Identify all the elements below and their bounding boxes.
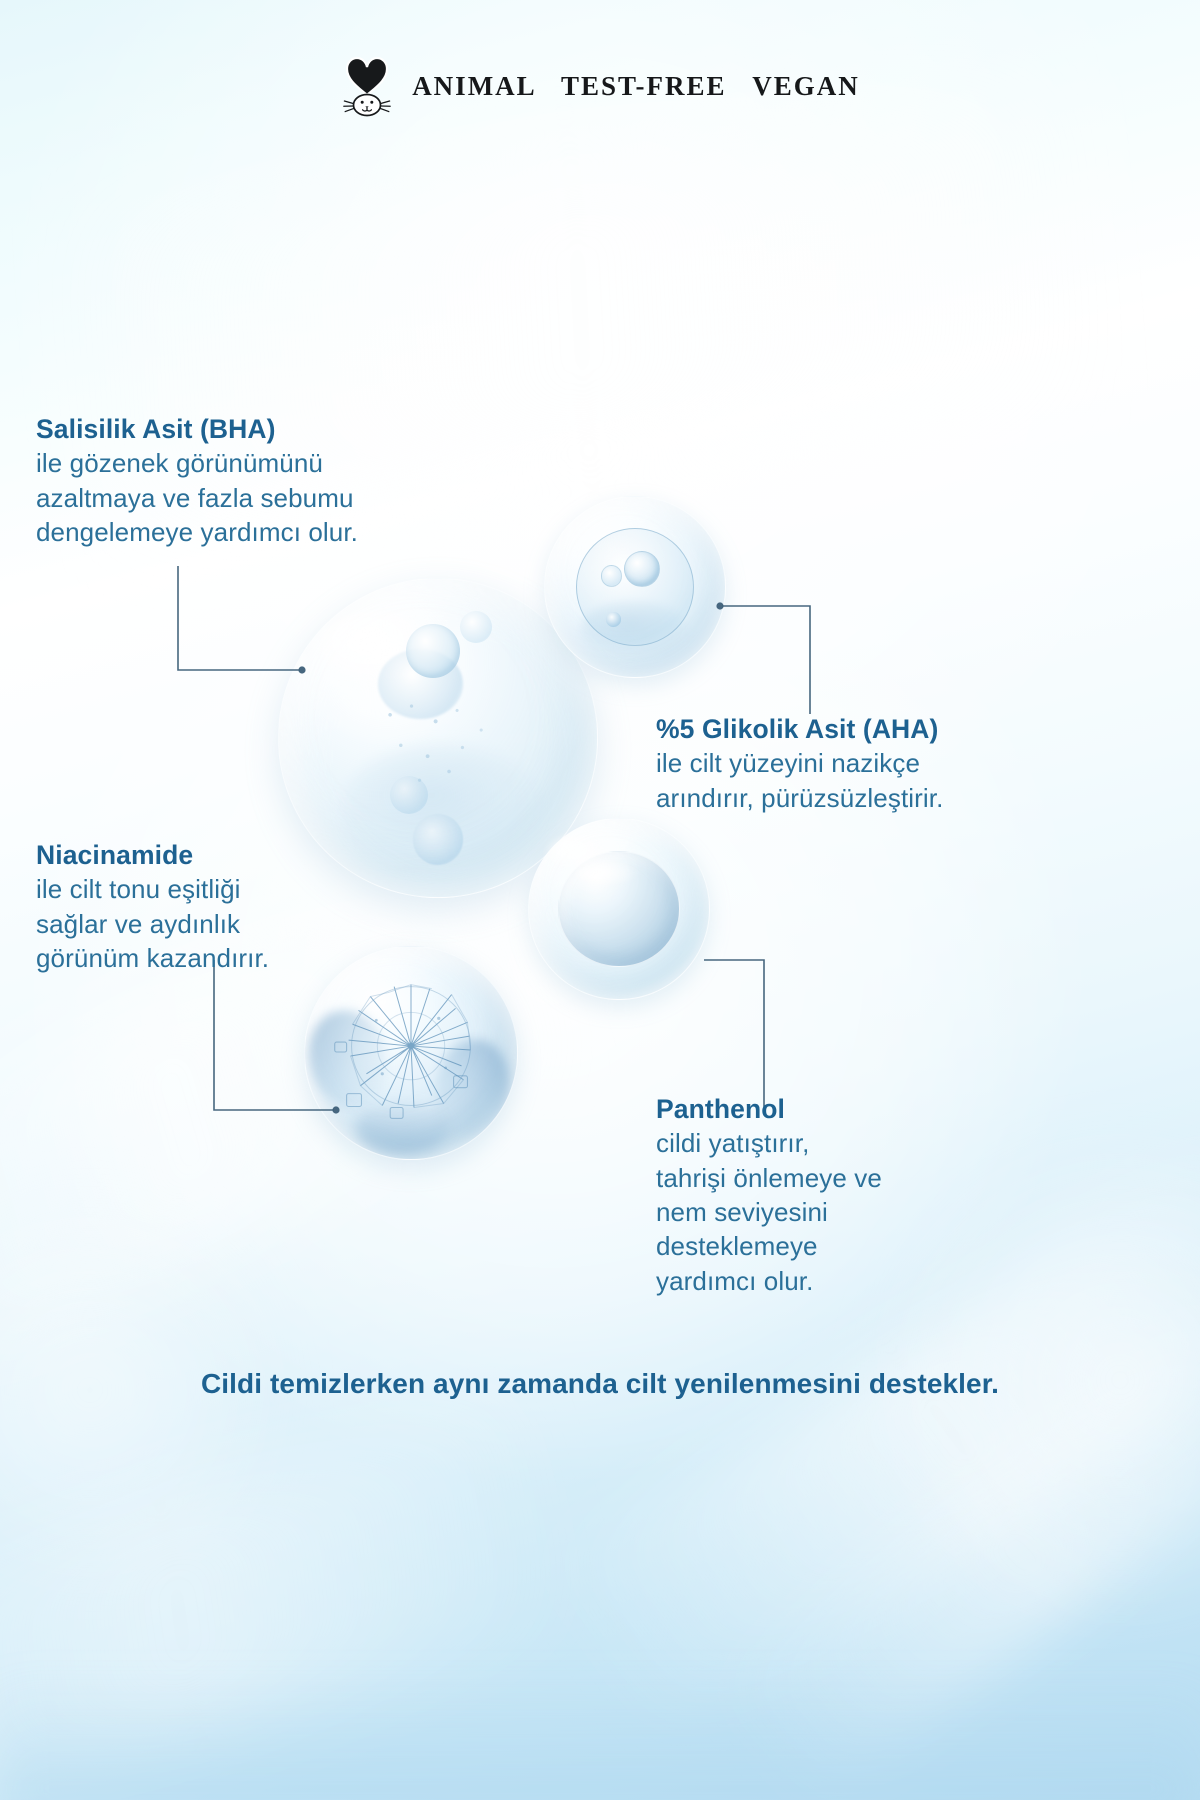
- droplet-aha: [544, 496, 726, 678]
- droplet-micro-bubbles: [374, 693, 508, 801]
- callout-title-bha: Salisilik Asit (BHA): [36, 412, 358, 446]
- droplet-inner-bubble: [460, 611, 492, 643]
- droplet-inner-bubble: [390, 776, 428, 814]
- callout-body-bha: ile gözenek görünümünü azaltmaya ve fazl…: [36, 446, 358, 549]
- droplet-highlight: [547, 835, 608, 871]
- bunny-heart-ears-icon: [340, 55, 394, 117]
- droplet-inner-bubble: [413, 814, 464, 865]
- callout-body-aha: ile cilt yüzeyini nazikçe arındırır, pür…: [656, 746, 943, 815]
- callout-body-panthenol: cildi yatıştırır, tahrişi önlemeye ve ne…: [656, 1126, 882, 1298]
- droplet-inner-ring: [576, 528, 695, 647]
- leader-line-bha: [176, 566, 306, 686]
- leader-line-aha: [714, 586, 824, 716]
- callout-panthenol: Panthenol cildi yatıştırır, tahrişi önle…: [656, 1092, 882, 1298]
- callout-title-niacinamide: Niacinamide: [36, 838, 269, 872]
- droplet-inner-bubble: [406, 624, 460, 678]
- droplet-niacinamide: [304, 946, 518, 1160]
- infographic-canvas: ANIMAL TEST-FREE VEGAN: [0, 0, 1200, 1800]
- callout-niacinamide: Niacinamide ile cilt tonu eşitliği sağla…: [36, 838, 269, 975]
- callout-title-panthenol: Panthenol: [656, 1092, 882, 1126]
- droplet-inner-bubble: [624, 551, 660, 587]
- cruelty-free-badge: ANIMAL TEST-FREE VEGAN: [0, 55, 1200, 117]
- callout-aha: %5 Glikolik Asit (AHA) ile cilt yüzeyini…: [656, 712, 943, 815]
- background-light-streak: [0, 1388, 578, 1800]
- droplet-inner-bubble: [606, 612, 620, 626]
- badge-label: ANIMAL TEST-FREE VEGAN: [412, 71, 860, 102]
- callout-title-aha: %5 Glikolik Asit (AHA): [656, 712, 943, 746]
- callout-bha: Salisilik Asit (BHA) ile gözenek görünüm…: [36, 412, 358, 549]
- footer-tagline: Cildi temizlerken aynı zamanda cilt yeni…: [0, 1368, 1200, 1400]
- droplet-crystal-pattern: [305, 947, 517, 1159]
- droplet-panthenol: [528, 818, 710, 1000]
- background-bottom-gradient: [0, 1680, 1200, 1800]
- callout-body-niacinamide: ile cilt tonu eşitliği sağlar ve aydınlı…: [36, 872, 269, 975]
